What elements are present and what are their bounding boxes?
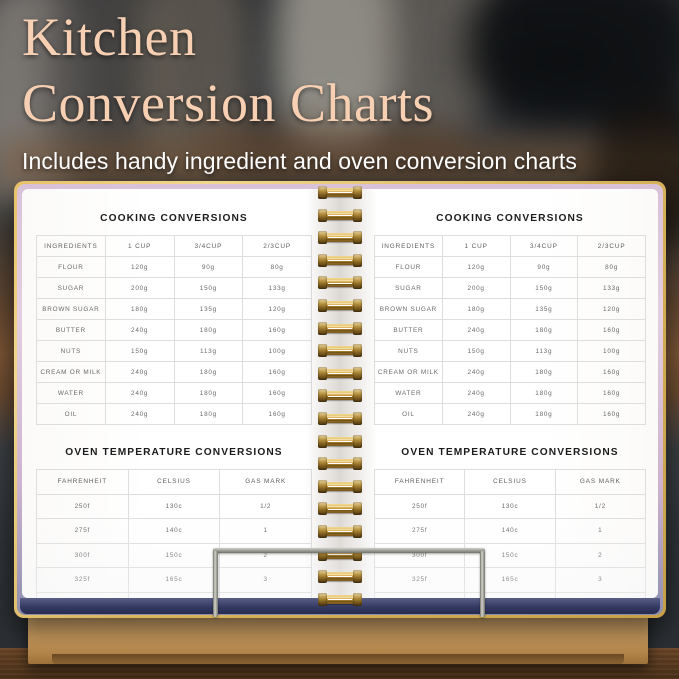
cell-23cup: 80g bbox=[243, 257, 312, 278]
cell-fahrenheit: 300f bbox=[37, 543, 129, 568]
cell-23cup: 160g bbox=[578, 320, 646, 341]
cell-gas-mark: 2 bbox=[555, 543, 645, 568]
cell-23cup: 100g bbox=[243, 341, 312, 362]
cell-celsius: 165c bbox=[465, 568, 555, 593]
table-header-row: FAHRENHEIT CELSIUS GAS MARK bbox=[37, 470, 312, 495]
cell-23cup: 120g bbox=[578, 299, 646, 320]
cell-23cup: 120g bbox=[243, 299, 312, 320]
cell-gas-mark: 1/2 bbox=[220, 494, 312, 519]
cell-23cup: 100g bbox=[578, 341, 646, 362]
cell-ingredient: SUGAR bbox=[37, 278, 106, 299]
cell-1cup: 240g bbox=[105, 320, 174, 341]
cell-celsius: 140c bbox=[128, 519, 220, 544]
table-row: 250f130c1/2 bbox=[375, 494, 646, 519]
cell-23cup: 133g bbox=[243, 278, 312, 299]
cell-23cup: 160g bbox=[578, 404, 646, 425]
wire-leg-left bbox=[213, 551, 218, 617]
product-photo-scene: Kitchen Conversion Charts Includes handy… bbox=[0, 0, 679, 679]
cell-gas-mark: 3 bbox=[220, 568, 312, 593]
cell-34cup: 180g bbox=[510, 404, 578, 425]
page-title-line-1: Kitchen bbox=[22, 10, 679, 64]
table-row: 325f165c3 bbox=[37, 568, 312, 593]
cell-34cup: 180g bbox=[510, 320, 578, 341]
table-row: FLOUR120g90g80g bbox=[375, 257, 646, 278]
cell-34cup: 180g bbox=[174, 383, 243, 404]
cell-ingredient: WATER bbox=[375, 383, 443, 404]
cell-1cup: 200g bbox=[442, 278, 510, 299]
cell-gas-mark: 4 bbox=[555, 592, 645, 598]
table-row: NUTS150g113g100g bbox=[375, 341, 646, 362]
table-row: CREAM OR MILK240g180g160g bbox=[375, 362, 646, 383]
cell-34cup: 135g bbox=[510, 299, 578, 320]
cell-ingredient: BUTTER bbox=[375, 320, 443, 341]
col-ingredients: INGREDIENTS bbox=[375, 236, 443, 257]
cell-ingredient: BROWN SUGAR bbox=[375, 299, 443, 320]
cooking-conversions-table-left: INGREDIENTS 1 CUP 3/4CUP 2/3CUP FLOUR120… bbox=[36, 235, 312, 425]
page-subtitle: Includes handy ingredient and oven conve… bbox=[22, 148, 679, 175]
cell-23cup: 80g bbox=[578, 257, 646, 278]
table-row: BUTTER240g180g160g bbox=[375, 320, 646, 341]
cell-23cup: 133g bbox=[578, 278, 646, 299]
cell-34cup: 180g bbox=[174, 320, 243, 341]
cell-fahrenheit: 275f bbox=[37, 519, 129, 544]
cell-fahrenheit: 300f bbox=[375, 543, 465, 568]
cell-34cup: 113g bbox=[510, 341, 578, 362]
table-row: SUGAR200g150g133g bbox=[37, 278, 312, 299]
cell-23cup: 160g bbox=[578, 383, 646, 404]
wooden-cookbook-stand bbox=[28, 612, 648, 664]
table-row: 250f130c1/2 bbox=[37, 494, 312, 519]
cell-ingredient: FLOUR bbox=[37, 257, 106, 278]
cell-gas-mark: 2 bbox=[220, 543, 312, 568]
cell-celsius: 150c bbox=[128, 543, 220, 568]
cell-ingredient: OIL bbox=[375, 404, 443, 425]
cell-1cup: 150g bbox=[442, 341, 510, 362]
cell-fahrenheit: 275f bbox=[375, 519, 465, 544]
right-page: COOKING CONVERSIONS INGREDIENTS 1 CUP 3/… bbox=[358, 189, 658, 598]
cell-34cup: 180g bbox=[174, 404, 243, 425]
cell-23cup: 160g bbox=[243, 320, 312, 341]
cell-34cup: 150g bbox=[510, 278, 578, 299]
cell-fahrenheit: 350f bbox=[37, 592, 129, 598]
page-title-line-2: Conversion Charts bbox=[22, 76, 679, 130]
col-1-cup: 1 CUP bbox=[105, 236, 174, 257]
cell-gas-mark: 1 bbox=[555, 519, 645, 544]
wire-leg-right bbox=[480, 551, 485, 617]
cell-gas-mark: 1 bbox=[220, 519, 312, 544]
oven-conversions-title-right: OVEN TEMPERATURE CONVERSIONS bbox=[374, 447, 646, 458]
cell-celsius: 165c bbox=[128, 568, 220, 593]
cell-ingredient: NUTS bbox=[375, 341, 443, 362]
left-page: COOKING CONVERSIONS INGREDIENTS 1 CUP 3/… bbox=[22, 189, 322, 598]
cell-ingredient: BROWN SUGAR bbox=[37, 299, 106, 320]
table-row: NUTS150g113g100g bbox=[37, 341, 312, 362]
col-gas-mark: GAS MARK bbox=[555, 470, 645, 495]
table-row: 300f150c2 bbox=[375, 543, 646, 568]
table-row: WATER240g180g160g bbox=[375, 383, 646, 404]
oven-conversions-table-right: FAHRENHEIT CELSIUS GAS MARK 250f130c1/2 … bbox=[374, 469, 646, 598]
oven-conversions-table-left: FAHRENHEIT CELSIUS GAS MARK 250f130c1/2 … bbox=[36, 469, 312, 598]
cell-ingredient: CREAM OR MILK bbox=[375, 362, 443, 383]
cell-1cup: 240g bbox=[105, 404, 174, 425]
col-34-cup: 3/4CUP bbox=[174, 236, 243, 257]
cell-23cup: 160g bbox=[243, 383, 312, 404]
cell-1cup: 240g bbox=[105, 383, 174, 404]
cell-ingredient: SUGAR bbox=[375, 278, 443, 299]
col-23-cup: 2/3CUP bbox=[243, 236, 312, 257]
cell-gas-mark: 1/2 bbox=[555, 494, 645, 519]
table-row: 325f165c3 bbox=[375, 568, 646, 593]
cell-1cup: 240g bbox=[442, 383, 510, 404]
col-celsius: CELSIUS bbox=[128, 470, 220, 495]
cell-ingredient: BUTTER bbox=[37, 320, 106, 341]
headline-block: Kitchen Conversion Charts Includes handy… bbox=[0, 0, 679, 175]
cell-1cup: 180g bbox=[442, 299, 510, 320]
table-row: BUTTER240g180g160g bbox=[37, 320, 312, 341]
cooking-conversions-table-right: INGREDIENTS 1 CUP 3/4CUP 2/3CUP FLOUR120… bbox=[374, 235, 646, 425]
cell-34cup: 90g bbox=[174, 257, 243, 278]
table-row: 350f180c4 bbox=[37, 592, 312, 598]
cell-ingredient: FLOUR bbox=[375, 257, 443, 278]
cell-fahrenheit: 350f bbox=[375, 592, 465, 598]
cell-fahrenheit: 250f bbox=[37, 494, 129, 519]
table-row: FLOUR120g90g80g bbox=[37, 257, 312, 278]
cell-celsius: 150c bbox=[465, 543, 555, 568]
cell-fahrenheit: 325f bbox=[37, 568, 129, 593]
table-row: OIL240g180g160g bbox=[37, 404, 312, 425]
cooking-conversions-title-left: COOKING CONVERSIONS bbox=[36, 213, 312, 224]
cell-celsius: 140c bbox=[465, 519, 555, 544]
cell-ingredient: NUTS bbox=[37, 341, 106, 362]
table-row: CREAM OR MILK240g180g160g bbox=[37, 362, 312, 383]
cell-34cup: 180g bbox=[174, 362, 243, 383]
cell-gas-mark: 4 bbox=[220, 592, 312, 598]
cell-1cup: 180g bbox=[105, 299, 174, 320]
col-23-cup: 2/3CUP bbox=[578, 236, 646, 257]
cell-1cup: 240g bbox=[105, 362, 174, 383]
cell-34cup: 90g bbox=[510, 257, 578, 278]
cell-1cup: 120g bbox=[105, 257, 174, 278]
cell-34cup: 135g bbox=[174, 299, 243, 320]
table-row: 300f150c2 bbox=[37, 543, 312, 568]
cell-34cup: 150g bbox=[174, 278, 243, 299]
table-row: 275f140c1 bbox=[375, 519, 646, 544]
table-header-row: INGREDIENTS 1 CUP 3/4CUP 2/3CUP bbox=[37, 236, 312, 257]
cell-23cup: 160g bbox=[243, 362, 312, 383]
cooking-conversions-title-right: COOKING CONVERSIONS bbox=[374, 213, 646, 224]
cell-ingredient: WATER bbox=[37, 383, 106, 404]
table-row: 350f180c4 bbox=[375, 592, 646, 598]
table-row: BROWN SUGAR180g135g120g bbox=[37, 299, 312, 320]
cell-1cup: 120g bbox=[442, 257, 510, 278]
cell-34cup: 180g bbox=[510, 362, 578, 383]
cell-fahrenheit: 325f bbox=[375, 568, 465, 593]
cell-1cup: 240g bbox=[442, 404, 510, 425]
table-row: BROWN SUGAR180g135g120g bbox=[375, 299, 646, 320]
table-row: 275f140c1 bbox=[37, 519, 312, 544]
cell-1cup: 240g bbox=[442, 362, 510, 383]
cell-34cup: 180g bbox=[510, 383, 578, 404]
table-row: SUGAR200g150g133g bbox=[375, 278, 646, 299]
table-header-row: FAHRENHEIT CELSIUS GAS MARK bbox=[375, 470, 646, 495]
oven-conversions-title-left: OVEN TEMPERATURE CONVERSIONS bbox=[36, 447, 312, 458]
cell-ingredient: OIL bbox=[37, 404, 106, 425]
book-spine-edge bbox=[20, 598, 660, 614]
table-row: WATER240g180g160g bbox=[37, 383, 312, 404]
cell-fahrenheit: 250f bbox=[375, 494, 465, 519]
col-celsius: CELSIUS bbox=[465, 470, 555, 495]
col-1-cup: 1 CUP bbox=[442, 236, 510, 257]
cell-23cup: 160g bbox=[578, 362, 646, 383]
cell-celsius: 180c bbox=[465, 592, 555, 598]
cell-ingredient: CREAM OR MILK bbox=[37, 362, 106, 383]
cell-34cup: 113g bbox=[174, 341, 243, 362]
col-34-cup: 3/4CUP bbox=[510, 236, 578, 257]
cell-1cup: 240g bbox=[442, 320, 510, 341]
col-gas-mark: GAS MARK bbox=[220, 470, 312, 495]
cell-celsius: 130c bbox=[465, 494, 555, 519]
col-ingredients: INGREDIENTS bbox=[37, 236, 106, 257]
open-page-spread: COOKING CONVERSIONS INGREDIENTS 1 CUP 3/… bbox=[22, 189, 658, 598]
table-header-row: INGREDIENTS 1 CUP 3/4CUP 2/3CUP bbox=[375, 236, 646, 257]
cell-23cup: 160g bbox=[243, 404, 312, 425]
cell-celsius: 130c bbox=[128, 494, 220, 519]
cell-gas-mark: 3 bbox=[555, 568, 645, 593]
cell-celsius: 180c bbox=[128, 592, 220, 598]
col-fahrenheit: FAHRENHEIT bbox=[37, 470, 129, 495]
wire-page-holder-bar bbox=[213, 548, 485, 553]
cell-1cup: 150g bbox=[105, 341, 174, 362]
cell-1cup: 200g bbox=[105, 278, 174, 299]
table-row: OIL240g180g160g bbox=[375, 404, 646, 425]
col-fahrenheit: FAHRENHEIT bbox=[375, 470, 465, 495]
